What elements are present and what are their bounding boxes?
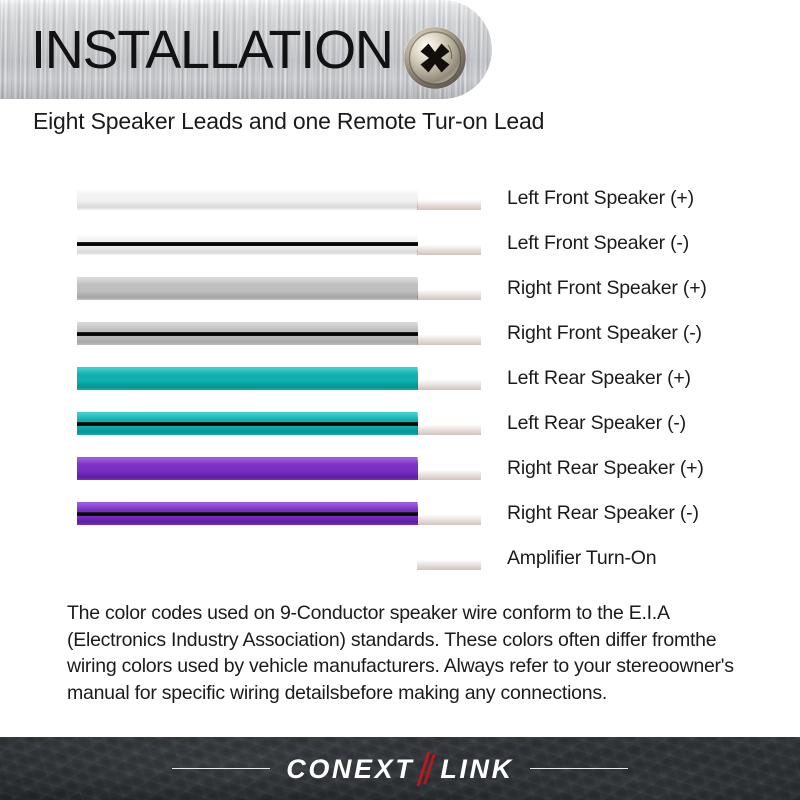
copper-strand-icon xyxy=(417,412,481,435)
wire-row: Amplifier Turn-On xyxy=(0,537,800,582)
copper-strand-icon xyxy=(417,232,481,255)
wire-row: Right Rear Speaker (-) xyxy=(0,492,800,537)
copper-strand-icon xyxy=(417,457,481,480)
wire-insulation-gray-black xyxy=(77,322,418,345)
wire-insulation-white-black xyxy=(77,232,418,255)
page-title: INSTALLATION xyxy=(31,19,393,81)
wire-label: Left Rear Speaker (+) xyxy=(507,366,691,391)
wire-label: Amplifier Turn-On xyxy=(507,546,656,571)
wire-black-stripe xyxy=(77,242,418,245)
wire-row: Left Rear Speaker (-) xyxy=(0,402,800,447)
wire-label: Left Front Speaker (+) xyxy=(507,186,694,211)
wire-label: Left Front Speaker (-) xyxy=(507,231,689,256)
disclaimer-paragraph: The color codes used on 9-Conductor spea… xyxy=(67,600,747,706)
brand-logo: CONEXT LINK xyxy=(286,754,514,784)
copper-strand-icon xyxy=(417,502,481,525)
installation-wire-chart-page: INSTALLATION Eight Speaker Leads and o xyxy=(0,0,800,800)
wire-insulation-teal xyxy=(77,367,418,390)
wire-legend-list: Left Front Speaker (+)Left Front Speaker… xyxy=(0,177,800,582)
copper-strand-icon xyxy=(417,367,481,390)
wire-black-stripe xyxy=(77,422,418,425)
copper-strand-icon xyxy=(417,547,481,570)
wire-label: Right Rear Speaker (-) xyxy=(507,501,699,526)
wire-row: Left Front Speaker (-) xyxy=(0,222,800,267)
copper-strand-icon xyxy=(417,277,481,300)
footer-rule-left xyxy=(172,768,270,770)
wire-row: Left Front Speaker (+) xyxy=(0,177,800,222)
brand-name-left: CONEXT xyxy=(286,754,414,784)
wire-black-stripe xyxy=(77,332,418,335)
wire-insulation-purple xyxy=(77,457,418,480)
wire-label: Right Front Speaker (+) xyxy=(507,276,707,301)
wire-insulation-gray xyxy=(77,277,418,300)
copper-strand-icon xyxy=(417,187,481,210)
wire-label: Right Front Speaker (-) xyxy=(507,321,702,346)
footer-band: CONEXT LINK xyxy=(0,737,800,800)
wire-insulation-blue xyxy=(77,547,418,570)
wire-label: Left Rear Speaker (-) xyxy=(507,411,686,436)
copper-strand-icon xyxy=(417,322,481,345)
wire-row: Left Rear Speaker (+) xyxy=(0,357,800,402)
wire-insulation-purple-black xyxy=(77,502,418,525)
wire-insulation-white xyxy=(77,187,418,210)
phillips-screw-icon xyxy=(404,27,466,89)
brand-name-right: LINK xyxy=(440,754,513,784)
subtitle: Eight Speaker Leads and one Remote Tur-o… xyxy=(33,108,544,135)
footer-rule-right xyxy=(530,768,628,770)
wire-label: Right Rear Speaker (+) xyxy=(507,456,704,481)
wire-row: Right Front Speaker (+) xyxy=(0,267,800,312)
wire-row: Right Front Speaker (-) xyxy=(0,312,800,357)
wire-insulation-teal-black xyxy=(77,412,418,435)
wire-black-stripe xyxy=(77,512,418,515)
red-slash-icon xyxy=(416,754,438,784)
wire-row: Right Rear Speaker (+) xyxy=(0,447,800,492)
